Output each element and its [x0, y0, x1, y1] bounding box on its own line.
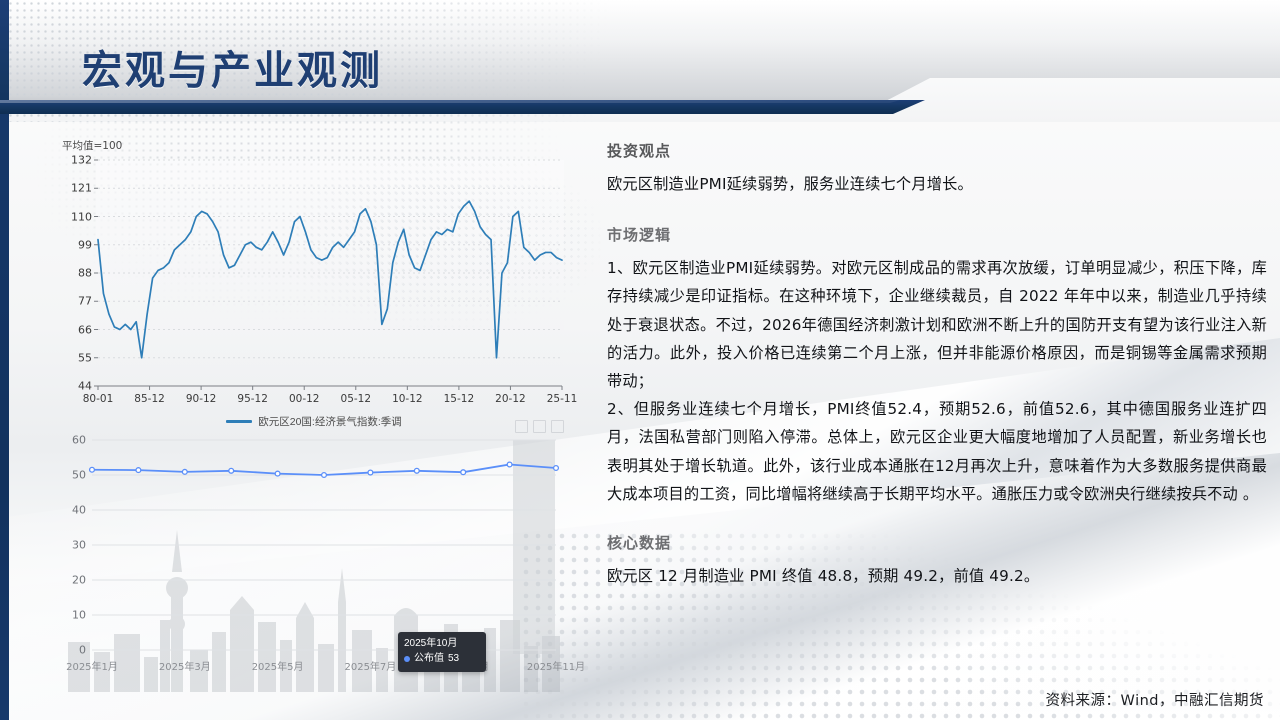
tooltip-date: 2025年10月: [404, 637, 480, 652]
tooltip-value: 53: [448, 652, 459, 667]
market-logic-paragraph-2: 2、但服务业连续七个月增长，PMI终值52.4，预期52.6，前值52.6，其中…: [607, 395, 1267, 508]
chart2-data-point: [182, 469, 187, 474]
chart2-data-point: [414, 468, 419, 473]
market-logic-paragraph-1: 1、欧元区制造业PMI延续弱势。对欧元区制成品的需求再次放缓，订单明显减少，积压…: [607, 254, 1267, 395]
page-title: 宏观与产业观测: [82, 38, 383, 96]
core-data-text: 欧元区 12 月制造业 PMI 终值 48.8，预期 49.2，前值 49.2。: [607, 562, 1267, 590]
chart2-data-point: [368, 470, 373, 475]
chart-economic-sentiment-index: 平均值=100 445566778899110121132 80-0185-12…: [58, 138, 570, 434]
investment-view-heading: 投资观点: [607, 140, 1267, 161]
commentary-panel: 投资观点 欧元区制造业PMI延续弱势，服务业连续七个月增长。 市场逻辑 1、欧元…: [607, 140, 1267, 590]
chart1-legend-label: 欧元区20国:经济景气指数:季调: [258, 414, 402, 429]
chart2-data-point: [275, 471, 280, 476]
market-logic-heading: 市场逻辑: [607, 224, 1267, 245]
chart-monthly-pmi: 0102030405060 2025年1月2025年3月2025年5月2025年…: [58, 428, 570, 690]
left-rail-top: [0, 0, 9, 100]
chart2-tooltip: 2025年10月 公布值 53: [398, 632, 486, 672]
chart2-data-point: [90, 467, 95, 472]
chart2-data-point: [136, 468, 141, 473]
chart2-data-point: [461, 470, 466, 475]
chart1-legend-swatch: [226, 420, 252, 423]
tooltip-series-label: 公布值: [414, 652, 444, 667]
left-navy-rail: [0, 114, 9, 720]
source-footer: 资料来源：Wind，中融汇信期货: [1046, 689, 1264, 710]
chart2-line-plot: [58, 428, 570, 690]
chart2-data-point: [322, 473, 327, 478]
chart1-line-plot: [58, 138, 570, 434]
chart2-data-point: [229, 468, 234, 473]
investment-view-text: 欧元区制造业PMI延续弱势，服务业连续七个月增长。: [607, 170, 1267, 198]
slide-canvas: 宏观与产业观测 平均值=100 445566778899110121132 80…: [0, 0, 1280, 720]
chart2-data-point: [554, 466, 559, 471]
tooltip-series-dot: [404, 656, 410, 662]
chart1-legend: 欧元区20国:经济景气指数:季调: [58, 414, 570, 429]
header-navy-bar-highlight: [0, 100, 900, 103]
chart2-data-point: [507, 462, 512, 467]
core-data-heading: 核心数据: [607, 532, 1267, 553]
